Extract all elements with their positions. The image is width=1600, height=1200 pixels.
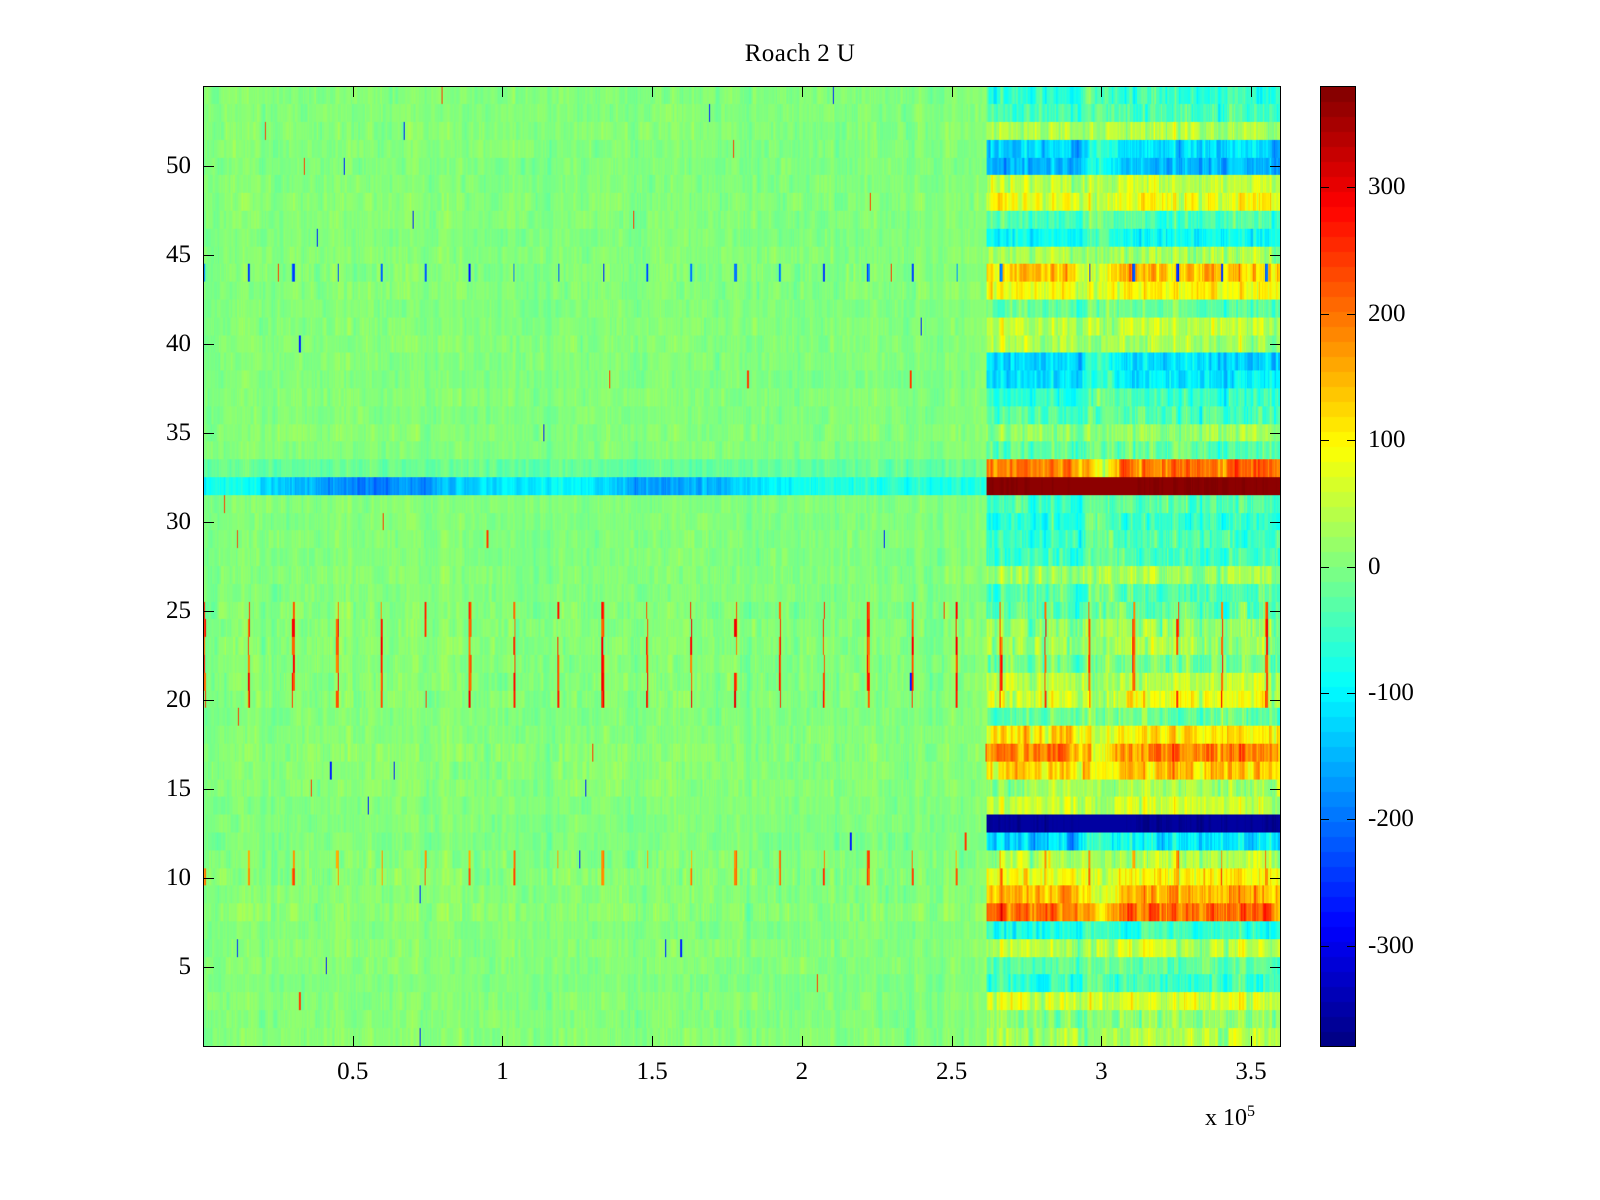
colorbar-tick-label: 300 bbox=[1368, 174, 1406, 199]
y-tick-label: 50 bbox=[131, 153, 191, 178]
x-tick-mark bbox=[353, 1036, 354, 1047]
y-tick-mark-right bbox=[1270, 789, 1281, 790]
x-axis-exponent-label: x 105 bbox=[1205, 1100, 1255, 1130]
x-tick-mark-top bbox=[802, 86, 803, 97]
x-exponent-base: x 10 bbox=[1205, 1105, 1247, 1131]
y-tick-label: 45 bbox=[131, 242, 191, 267]
x-tick-mark bbox=[952, 1036, 953, 1047]
y-tick-mark-right bbox=[1270, 166, 1281, 167]
y-tick-label: 20 bbox=[131, 687, 191, 712]
y-tick-mark-right bbox=[1270, 878, 1281, 879]
y-tick-label: 35 bbox=[131, 420, 191, 445]
y-tick-mark-right bbox=[1270, 433, 1281, 434]
y-tick-label: 15 bbox=[131, 776, 191, 801]
colorbar-tick-mark bbox=[1320, 946, 1329, 947]
colorbar-tick-mark-right bbox=[1347, 693, 1356, 694]
colorbar-tick-mark-right bbox=[1347, 567, 1356, 568]
x-tick-label: 3 bbox=[1061, 1059, 1141, 1084]
y-tick-label: 30 bbox=[131, 509, 191, 534]
colorbar-tick-mark bbox=[1320, 567, 1329, 568]
y-tick-mark bbox=[203, 433, 214, 434]
colorbar-tick-label: -300 bbox=[1368, 933, 1414, 958]
y-tick-mark-right bbox=[1270, 344, 1281, 345]
x-tick-mark-top bbox=[652, 86, 653, 97]
x-tick-label: 2.5 bbox=[912, 1059, 992, 1084]
y-tick-mark bbox=[203, 611, 214, 612]
x-tick-mark-top bbox=[952, 86, 953, 97]
y-tick-mark-right bbox=[1270, 255, 1281, 256]
colorbar-tick-mark bbox=[1320, 819, 1329, 820]
x-tick-mark-top bbox=[353, 86, 354, 97]
colorbar-tick-label: 200 bbox=[1368, 301, 1406, 326]
colorbar-tick-label: -200 bbox=[1368, 806, 1414, 831]
y-tick-label: 40 bbox=[131, 331, 191, 356]
x-tick-mark bbox=[802, 1036, 803, 1047]
y-tick-label: 10 bbox=[131, 865, 191, 890]
x-tick-mark bbox=[1101, 1036, 1102, 1047]
x-tick-mark-top bbox=[1251, 86, 1252, 97]
x-tick-label: 0.5 bbox=[313, 1059, 393, 1084]
colorbar-tick-mark bbox=[1320, 693, 1329, 694]
x-tick-label: 1.5 bbox=[612, 1059, 692, 1084]
colorbar-tick-mark-right bbox=[1347, 440, 1356, 441]
y-tick-mark bbox=[203, 166, 214, 167]
y-tick-mark bbox=[203, 522, 214, 523]
x-tick-mark bbox=[1251, 1036, 1252, 1047]
y-tick-mark bbox=[203, 967, 214, 968]
colorbar-tick-mark-right bbox=[1347, 314, 1356, 315]
y-tick-mark-right bbox=[1270, 967, 1281, 968]
colorbar-tick-mark-right bbox=[1347, 819, 1356, 820]
colorbar-tick-label: -100 bbox=[1368, 680, 1414, 705]
y-tick-mark-right bbox=[1270, 611, 1281, 612]
y-tick-mark bbox=[203, 700, 214, 701]
x-tick-label: 2 bbox=[762, 1059, 842, 1084]
y-tick-mark bbox=[203, 344, 214, 345]
colorbar-tick-label: 0 bbox=[1368, 554, 1381, 579]
y-tick-label: 5 bbox=[131, 954, 191, 979]
y-tick-mark bbox=[203, 789, 214, 790]
x-tick-mark bbox=[502, 1036, 503, 1047]
x-tick-label: 3.5 bbox=[1211, 1059, 1291, 1084]
x-tick-mark-top bbox=[1101, 86, 1102, 97]
heatmap-axes[interactable] bbox=[203, 86, 1281, 1047]
x-exponent-power: 5 bbox=[1247, 1103, 1255, 1120]
heatmap-image bbox=[204, 87, 1280, 1046]
colorbar-tick-label: 100 bbox=[1368, 427, 1406, 452]
y-tick-mark-right bbox=[1270, 522, 1281, 523]
y-tick-mark-right bbox=[1270, 700, 1281, 701]
colorbar-tick-mark bbox=[1320, 187, 1329, 188]
y-tick-mark bbox=[203, 255, 214, 256]
y-tick-mark bbox=[203, 878, 214, 879]
colorbar-tick-mark bbox=[1320, 440, 1329, 441]
figure-canvas: Roach 2 U 5101520253035404550 0.511.522.… bbox=[0, 0, 1600, 1200]
x-tick-mark bbox=[652, 1036, 653, 1047]
y-tick-label: 25 bbox=[131, 598, 191, 623]
colorbar-tick-mark-right bbox=[1347, 946, 1356, 947]
colorbar-tick-mark-right bbox=[1347, 187, 1356, 188]
x-tick-mark-top bbox=[502, 86, 503, 97]
colorbar-tick-mark bbox=[1320, 314, 1329, 315]
page-title: Roach 2 U bbox=[0, 40, 1600, 68]
x-tick-label: 1 bbox=[462, 1059, 542, 1084]
